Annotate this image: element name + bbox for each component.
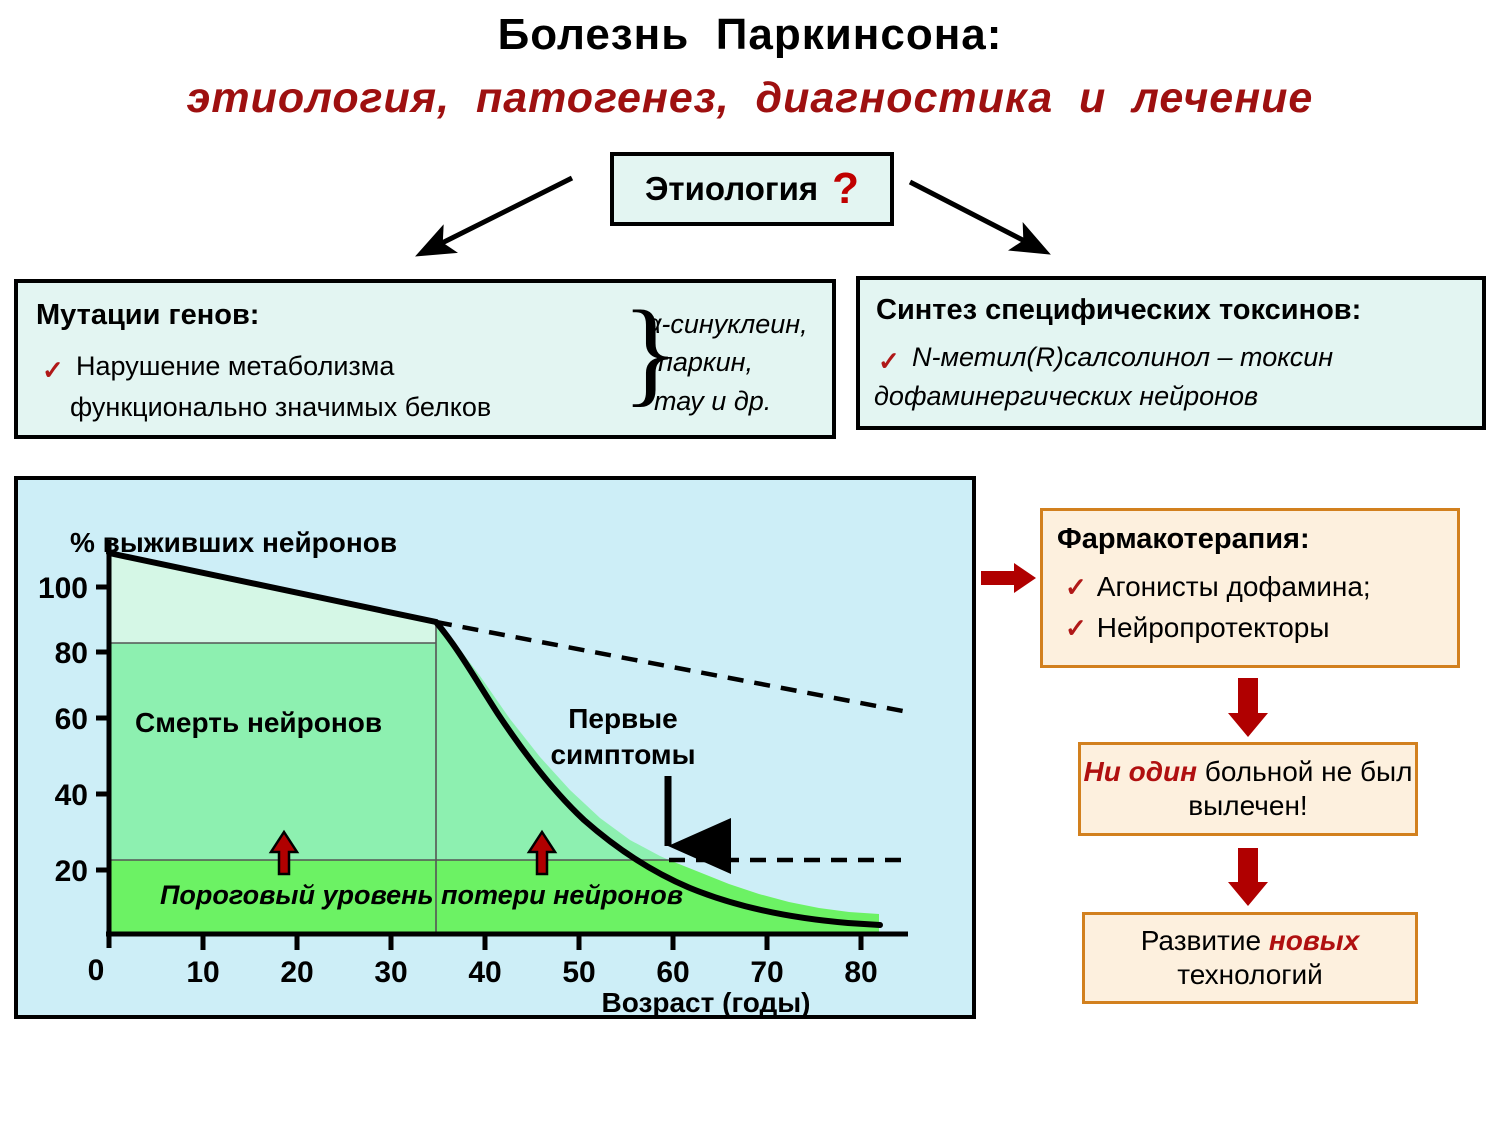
gene-mutations-box: Мутации генов: ✓ Нарушение метаболизма ф… bbox=[14, 279, 836, 439]
check-icon: ✓ bbox=[878, 346, 900, 377]
y-tick-label: 80 bbox=[55, 637, 88, 670]
pharmacotherapy-box: Фармакотерапия: ✓Агонисты дофамина; ✓Ней… bbox=[1040, 508, 1460, 668]
toxin-line1: N-метил(R)салсолинол – токсин bbox=[912, 342, 1333, 373]
toxin-line2: дофаминергических нейронов bbox=[874, 381, 1258, 412]
pharmacotherapy-item-2-label: Нейропротекторы bbox=[1097, 612, 1330, 643]
new-technologies-text: Развитие новых технологий bbox=[1085, 924, 1415, 992]
no-cure-text: Ни один больной не был вылечен! bbox=[1081, 755, 1415, 823]
y-tick-label: 20 bbox=[55, 855, 88, 888]
x-tick-label: 70 bbox=[750, 956, 783, 989]
etiology-box[interactable]: Этиология ? bbox=[610, 152, 894, 226]
toxin-synthesis-heading: Синтез специфических токсинов: bbox=[876, 294, 1361, 327]
gene-bullet-line1: Нарушение метаболизма bbox=[76, 351, 394, 382]
pharmacotherapy-heading: Фармакотерапия: bbox=[1057, 523, 1310, 556]
x-tick-label: 40 bbox=[468, 956, 501, 989]
chart-top-wedge bbox=[109, 553, 436, 643]
check-icon: ✓ bbox=[42, 355, 64, 386]
x-tick-label: 0 bbox=[88, 954, 105, 987]
arrow-pharma-to-nocure bbox=[1228, 678, 1268, 737]
annotation-threshold-label: Пороговый уровень потери нейронов bbox=[160, 880, 683, 910]
y-tick-label: 40 bbox=[55, 779, 88, 812]
x-tick-label: 50 bbox=[562, 956, 595, 989]
no-cure-emphasis: Ни один bbox=[1084, 756, 1198, 787]
arrow-nocure-to-newtech bbox=[1228, 848, 1268, 906]
neuron-survival-chart-panel: 100 80 60 40 20 0 10 20 30 40 50 60 70 8… bbox=[14, 476, 976, 1019]
annotation-neuron-death: Смерть нейронов bbox=[135, 707, 382, 738]
x-axis-label: Возраст (годы) bbox=[602, 987, 811, 1015]
gene-list-item: α-синуклеин, bbox=[646, 305, 808, 343]
gene-mutations-heading: Мутации генов: bbox=[36, 299, 259, 332]
y-tick-label: 60 bbox=[55, 703, 88, 736]
gene-bullet-line2: функционально значимых белков bbox=[70, 392, 491, 423]
neuron-survival-chart: 100 80 60 40 20 0 10 20 30 40 50 60 70 8… bbox=[18, 480, 972, 1015]
y-tick-label: 100 bbox=[38, 572, 88, 605]
new-technologies-prefix: Развитие bbox=[1141, 925, 1269, 956]
gene-list: α-синуклеин, паркин, тау и др. bbox=[646, 305, 808, 420]
pharmacotherapy-item-2: ✓Нейропротекторы bbox=[1065, 612, 1330, 644]
pharmacotherapy-item-1-label: Агонисты дофамина; bbox=[1097, 571, 1371, 602]
annotation-first-symptoms-line1: Первые bbox=[568, 703, 678, 734]
question-mark-icon: ? bbox=[832, 169, 859, 209]
x-tick-label: 60 bbox=[656, 956, 689, 989]
x-tick-label: 30 bbox=[374, 956, 407, 989]
arrow-chart-to-pharma bbox=[981, 563, 1036, 593]
x-tick-label: 20 bbox=[280, 956, 313, 989]
check-icon: ✓ bbox=[1065, 613, 1087, 643]
no-cure-rest: больной не был вылечен! bbox=[1188, 756, 1412, 821]
arrow-to-toxins bbox=[910, 182, 1042, 250]
page-title-line1: Болезнь Паркинсона: bbox=[0, 10, 1500, 60]
gene-list-item: тау и др. bbox=[646, 382, 808, 420]
new-technologies-emphasis: новых bbox=[1269, 925, 1359, 956]
page-title-line2: этиология, патогенез, диагностика и лече… bbox=[0, 74, 1500, 123]
etiology-label: Этиология bbox=[645, 170, 818, 208]
normal-aging-dashed-line bbox=[436, 622, 908, 712]
annotation-first-symptoms-line2: симптомы bbox=[550, 739, 695, 770]
pharmacotherapy-item-1: ✓Агонисты дофамина; bbox=[1065, 571, 1371, 603]
arrow-to-genes bbox=[424, 178, 572, 252]
toxin-synthesis-box: Синтез специфических токсинов: ✓ N-метил… bbox=[856, 276, 1486, 430]
gene-list-item: паркин, bbox=[646, 343, 808, 381]
x-tick-label: 80 bbox=[844, 956, 877, 989]
new-technologies-box: Развитие новых технологий bbox=[1082, 912, 1418, 1004]
new-technologies-suffix: технологий bbox=[1177, 959, 1323, 990]
y-axis-label: % выживших нейронов bbox=[70, 527, 397, 558]
no-cure-box: Ни один больной не был вылечен! bbox=[1078, 742, 1418, 836]
x-tick-label: 10 bbox=[186, 956, 219, 989]
check-icon: ✓ bbox=[1065, 572, 1087, 602]
